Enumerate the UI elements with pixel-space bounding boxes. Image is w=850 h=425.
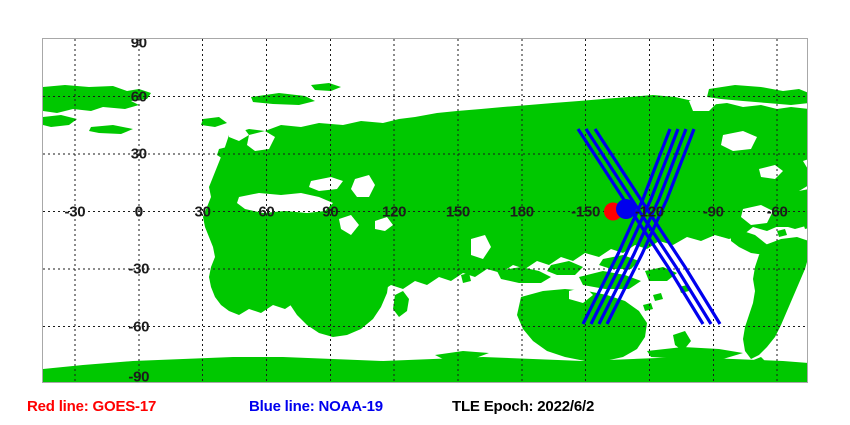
lon-tick-90: 90: [322, 204, 338, 219]
lat-tick-60: 60: [131, 89, 147, 104]
lon-tick-60: 60: [258, 204, 274, 219]
lon-tick-minus120: -120: [635, 204, 664, 219]
legend-goes17: Red line: GOES-17: [27, 395, 156, 419]
lat-tick-minus60: -60: [128, 319, 149, 334]
legend-noaa19: Blue line: NOAA-19: [249, 395, 383, 419]
lon-tick-minus150: -150: [571, 204, 600, 219]
lon-tick-minus90: -90: [703, 204, 724, 219]
legend-bar: Red line: GOES-17 Blue line: NOAA-19 TLE…: [0, 395, 850, 419]
world-map-landmasses: [43, 39, 808, 383]
lat-tick-minus30: -30: [128, 262, 149, 277]
legend-tle-epoch: TLE Epoch: 2022/6/2: [452, 395, 594, 419]
lon-tick-0: 0: [135, 204, 143, 219]
lat-tick-minus90: -90: [128, 370, 149, 384]
lat-tick-90: 90: [131, 38, 147, 51]
lon-tick-minus30: -30: [65, 204, 86, 219]
lon-tick-minus60: -60: [767, 204, 788, 219]
world-map-panel: 90 60 30 0 -30 -60 -90 -30 0 30 60 90 12…: [42, 38, 808, 383]
lat-tick-30: 30: [131, 147, 147, 162]
lon-tick-120: 120: [382, 204, 406, 219]
lon-tick-30: 30: [195, 204, 211, 219]
lon-tick-150: 150: [446, 204, 470, 219]
lon-tick-180: 180: [510, 204, 534, 219]
